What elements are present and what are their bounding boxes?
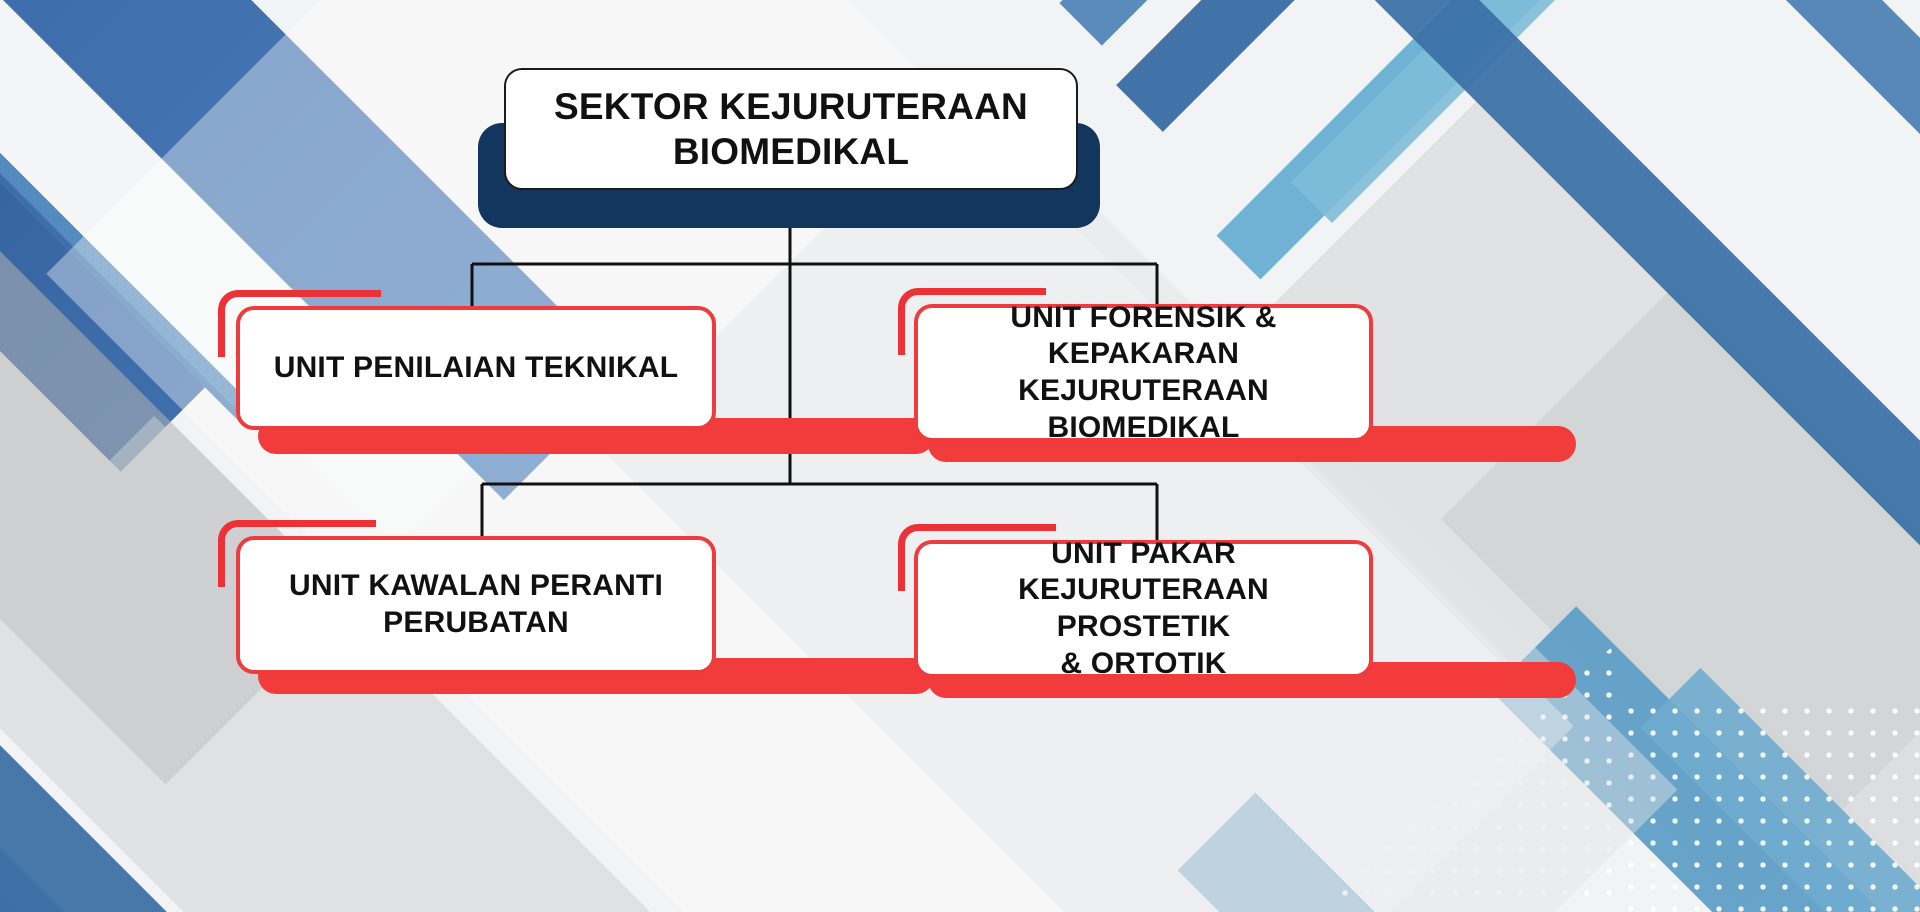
node-card[interactable]: UNIT PENILAIAN TEKNIKAL bbox=[236, 306, 716, 430]
bg-band-topright-navy bbox=[1116, 0, 1460, 132]
bg-band-topright-light-2 bbox=[1291, 0, 1827, 223]
bg-band-topright-dark-2 bbox=[1482, 0, 1920, 192]
node-card[interactable]: UNIT PAKAR KEJURUTERAAN PROSTETIK & ORTO… bbox=[914, 540, 1373, 678]
bg-band-topleft-dark bbox=[0, 0, 227, 472]
node-unit-kawalan-peranti-perubatan[interactable]: UNIT KAWALAN PERANTI PERUBATAN bbox=[218, 520, 718, 700]
node-label: UNIT PENILAIAN TEKNIKAL bbox=[256, 350, 697, 387]
bg-band-bottomright-3 bbox=[1178, 793, 1553, 912]
node-sektor-kejuruteraan-biomedikal[interactable]: SEKTOR KEJURUTERAAN BIOMEDIKAL bbox=[478, 68, 1103, 228]
node-unit-pakar-prostetik-ortotik[interactable]: UNIT PAKAR KEJURUTERAAN PROSTETIK & ORTO… bbox=[898, 524, 1378, 704]
node-unit-forensik-kepakaran[interactable]: UNIT FORENSIK & KEPAKARAN KEJURUTERAAN B… bbox=[898, 288, 1378, 463]
node-label: UNIT KAWALAN PERANTI PERUBATAN bbox=[271, 568, 681, 641]
node-card[interactable]: SEKTOR KEJURUTERAAN BIOMEDIKAL bbox=[504, 68, 1078, 190]
bg-band-bottomleft-d bbox=[0, 734, 356, 912]
node-label: UNIT FORENSIK & KEPAKARAN KEJURUTERAAN B… bbox=[918, 300, 1369, 446]
bg-band-topright-dark-1 bbox=[1217, 0, 1920, 550]
bg-dot-pattern-2 bbox=[1620, 700, 1920, 912]
org-chart-canvas: SEKTOR KEJURUTERAAN BIOMEDIKAL UNIT PENI… bbox=[0, 0, 1920, 912]
bg-band-bottomright-1 bbox=[1491, 606, 1920, 912]
node-label: SEKTOR KEJURUTERAAN BIOMEDIKAL bbox=[536, 84, 1046, 174]
bg-band-bottomleft-a bbox=[0, 527, 128, 912]
bg-wedge-right-grey-2 bbox=[1441, 286, 1920, 912]
node-card[interactable]: UNIT KAWALAN PERANTI PERUBATAN bbox=[236, 536, 716, 674]
bg-wedge-right-grey-1 bbox=[1208, 73, 1920, 907]
bg-band-topleft-white bbox=[0, 0, 472, 547]
bg-band-topright-navy-2 bbox=[1059, 0, 1370, 46]
bg-band-bottomleft-b bbox=[0, 591, 174, 912]
node-label: UNIT PAKAR KEJURUTERAAN PROSTETIK & ORTO… bbox=[918, 536, 1369, 682]
node-unit-penilaian-teknikal[interactable]: UNIT PENILAIAN TEKNIKAL bbox=[218, 290, 718, 465]
node-card[interactable]: UNIT FORENSIK & KEPAKARAN KEJURUTERAAN B… bbox=[914, 304, 1373, 442]
bg-band-bottomright-2 bbox=[1640, 668, 1920, 912]
bg-band-topright-light-1 bbox=[1217, 0, 1756, 279]
